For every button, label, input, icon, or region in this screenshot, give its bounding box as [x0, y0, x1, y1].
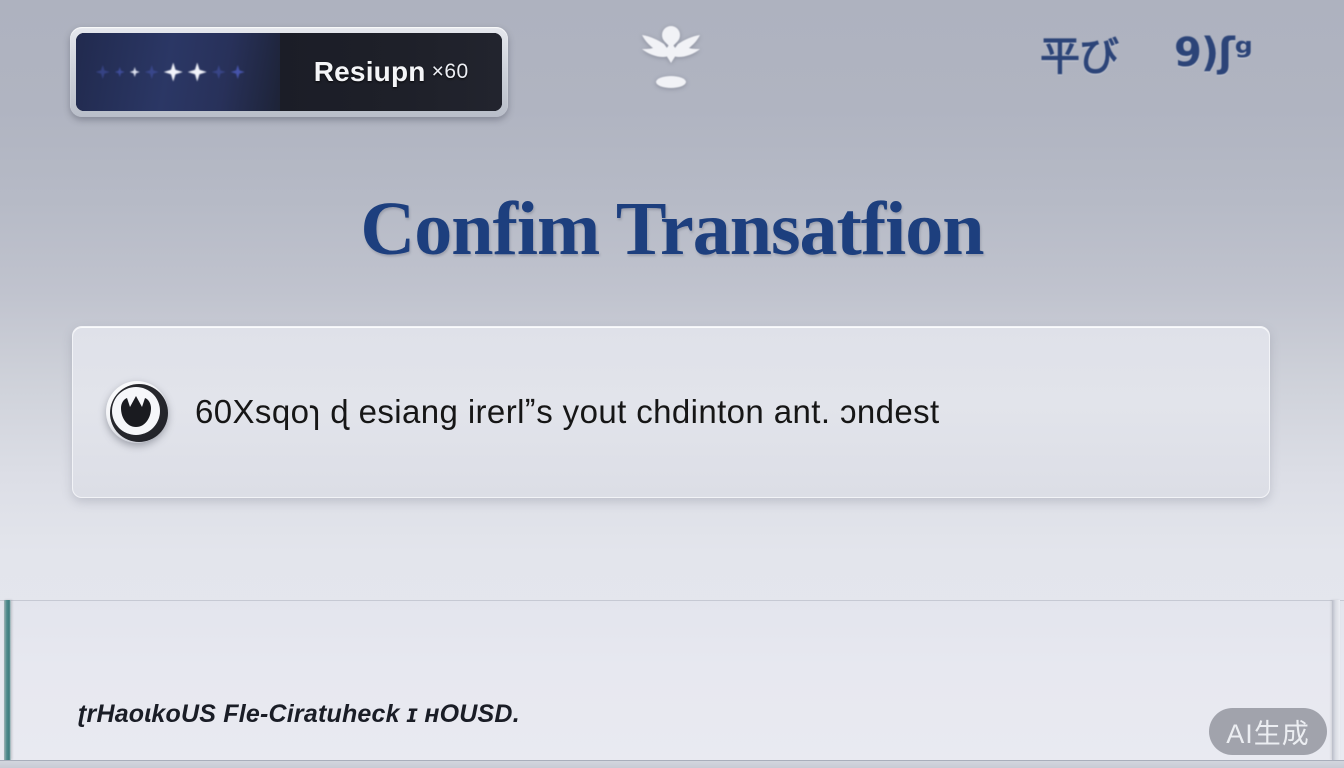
resource-badge[interactable]: Resiupn ×60 [70, 27, 508, 117]
sparkle-icon [164, 63, 183, 82]
sparkle-icon [231, 65, 245, 79]
footer-note: ʈrHaoɩkoUS Fle-Ciratuheck ɪ ʜOUSD. [78, 700, 520, 729]
transaction-message: 60Xsqoɿ ɖ esiang irerlˮs yout chdinton a… [195, 393, 940, 431]
panel-left-accent-bar [4, 600, 11, 760]
winged-crest-icon [628, 18, 714, 94]
sparkle-row [96, 63, 245, 82]
top-right-glyph-group-1: 平び [1040, 24, 1118, 82]
sparkle-icon [96, 65, 110, 79]
sparkle-icon [145, 65, 159, 79]
page-title: Confim Transatfion [0, 186, 1344, 273]
resource-badge-count: ×60 [432, 60, 469, 84]
panel-bottom-divider [0, 760, 1344, 768]
lower-panel [0, 600, 1344, 768]
top-right-glyph-group-2: 9)ʃᵍ [1174, 30, 1252, 76]
ai-generated-watermark: AI生成 [1209, 708, 1327, 755]
resource-badge-label: Resiupn [314, 56, 426, 88]
dark-circle-crest-icon [103, 378, 171, 446]
resource-badge-icon-panel [76, 33, 280, 111]
resource-badge-label-panel: Resiupn ×60 [280, 33, 502, 111]
panel-right-accent-bar [1332, 600, 1340, 760]
sparkle-icon [130, 67, 140, 77]
sparkle-icon [212, 65, 226, 79]
sparkle-icon [188, 63, 207, 82]
sparkle-icon [115, 67, 125, 77]
top-right-indicators: 平び 9)ʃᵍ [1040, 22, 1280, 84]
resource-badge-inner: Resiupn ×60 [76, 33, 502, 111]
transaction-info-card: 60Xsqoɿ ɖ esiang irerlˮs yout chdinton a… [72, 326, 1270, 498]
app-screen: Resiupn ×60 平び 9)ʃᵍ Confim Transatfion [0, 0, 1344, 768]
